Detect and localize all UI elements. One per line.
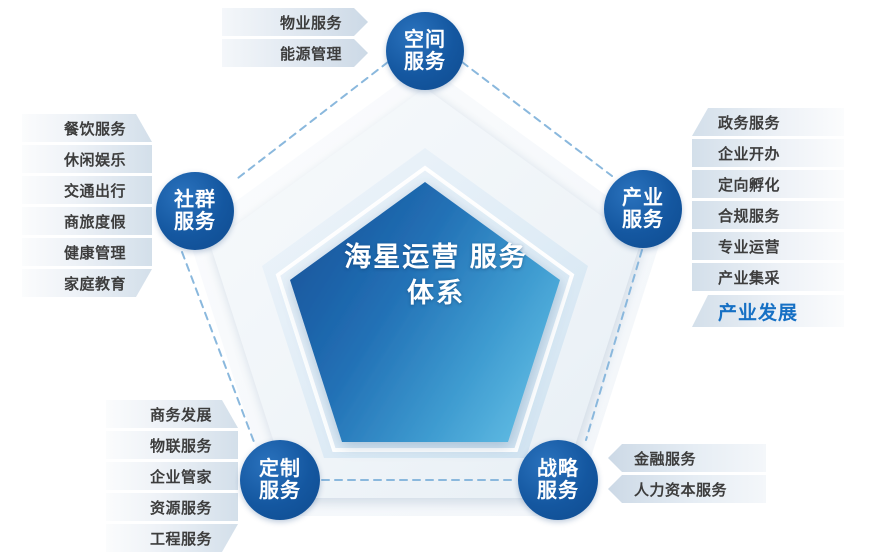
ribbon-item[interactable]: 物业服务 <box>222 8 368 36</box>
hub-strategy-service[interactable]: 战略 服务 <box>518 440 598 520</box>
ribbon-label: 商旅度假 <box>64 211 126 232</box>
ribbon-group-strategy: 金融服务 人力资本服务 <box>608 444 766 506</box>
ribbon-label: 交通出行 <box>64 180 126 201</box>
hub-industry-line2: 服务 <box>622 209 664 231</box>
ribbon-item[interactable]: 工程服务 <box>106 524 238 552</box>
ribbon-label: 人力资本服务 <box>634 479 727 500</box>
ribbon-label: 企业管家 <box>150 466 212 487</box>
ribbon-label-highlight: 产业发展 <box>718 298 798 325</box>
ribbon-item[interactable]: 政务服务 <box>692 108 844 136</box>
ribbon-item[interactable]: 企业管家 <box>106 462 238 490</box>
ribbon-group-custom: 商务发展 物联服务 企业管家 资源服务 工程服务 <box>106 400 238 552</box>
hub-space-line2: 服务 <box>404 51 446 73</box>
hub-community-service[interactable]: 社群 服务 <box>156 172 234 250</box>
hub-community-line1: 社群 <box>174 189 216 211</box>
ribbon-label: 物业服务 <box>280 12 342 33</box>
ribbon-group-industry: 政务服务 企业开办 定向孵化 合规服务 专业运营 产业集采 产业发展 <box>692 108 844 330</box>
ribbon-label: 工程服务 <box>150 528 212 549</box>
ribbon-label: 资源服务 <box>150 497 212 518</box>
hub-custom-line1: 定制 <box>259 458 301 480</box>
ribbon-item[interactable]: 人力资本服务 <box>608 475 766 503</box>
hub-custom-service[interactable]: 定制 服务 <box>240 440 320 520</box>
ribbon-item[interactable]: 能源管理 <box>222 39 368 67</box>
hub-space-service[interactable]: 空间 服务 <box>386 12 464 90</box>
hub-industry-service[interactable]: 产业 服务 <box>604 170 682 248</box>
ribbon-item[interactable]: 定向孵化 <box>692 170 844 198</box>
hub-space-line1: 空间 <box>404 29 446 51</box>
ribbon-item[interactable]: 休闲娱乐 <box>22 145 152 173</box>
ribbon-item-highlight[interactable]: 产业发展 <box>692 295 844 327</box>
ribbon-item[interactable]: 交通出行 <box>22 176 152 204</box>
hub-strategy-line1: 战略 <box>537 458 579 480</box>
ribbon-item[interactable]: 资源服务 <box>106 493 238 521</box>
diagram-canvas: 海星运营 服务体系 空间 服务 产业 服务 社群 服务 定制 服务 战略 服务 … <box>0 0 872 552</box>
ribbon-label: 专业运营 <box>718 236 780 257</box>
ribbon-label: 定向孵化 <box>718 174 780 195</box>
ribbon-item[interactable]: 健康管理 <box>22 238 152 266</box>
ribbon-label: 商务发展 <box>150 404 212 425</box>
ribbon-item[interactable]: 产业集采 <box>692 263 844 291</box>
hub-community-line2: 服务 <box>174 211 216 233</box>
ribbon-item[interactable]: 合规服务 <box>692 201 844 229</box>
ribbon-item[interactable]: 家庭教育 <box>22 269 152 297</box>
ribbon-item[interactable]: 商务发展 <box>106 400 238 428</box>
ribbon-group-community: 餐饮服务 休闲娱乐 交通出行 商旅度假 健康管理 家庭教育 <box>22 114 152 300</box>
ribbon-item[interactable]: 商旅度假 <box>22 207 152 235</box>
ribbon-label: 休闲娱乐 <box>64 149 126 170</box>
hub-custom-line2: 服务 <box>259 480 301 502</box>
hub-industry-line1: 产业 <box>622 187 664 209</box>
ribbon-group-space: 物业服务 能源管理 <box>222 8 368 70</box>
ribbon-label: 能源管理 <box>280 43 342 64</box>
ribbon-item[interactable]: 物联服务 <box>106 431 238 459</box>
ribbon-label: 产业集采 <box>718 267 780 288</box>
ribbon-item[interactable]: 企业开办 <box>692 139 844 167</box>
ribbon-item[interactable]: 金融服务 <box>608 444 766 472</box>
ribbon-label: 家庭教育 <box>64 273 126 294</box>
ribbon-label: 物联服务 <box>150 435 212 456</box>
ribbon-item[interactable]: 餐饮服务 <box>22 114 152 142</box>
ribbon-label: 合规服务 <box>718 205 780 226</box>
ribbon-label: 金融服务 <box>634 448 696 469</box>
ribbon-label: 企业开办 <box>718 143 780 164</box>
ribbon-label: 餐饮服务 <box>64 118 126 139</box>
ribbon-label: 健康管理 <box>64 242 126 263</box>
ribbon-item[interactable]: 专业运营 <box>692 232 844 260</box>
ribbon-label: 政务服务 <box>718 112 780 133</box>
hub-strategy-line2: 服务 <box>537 480 579 502</box>
